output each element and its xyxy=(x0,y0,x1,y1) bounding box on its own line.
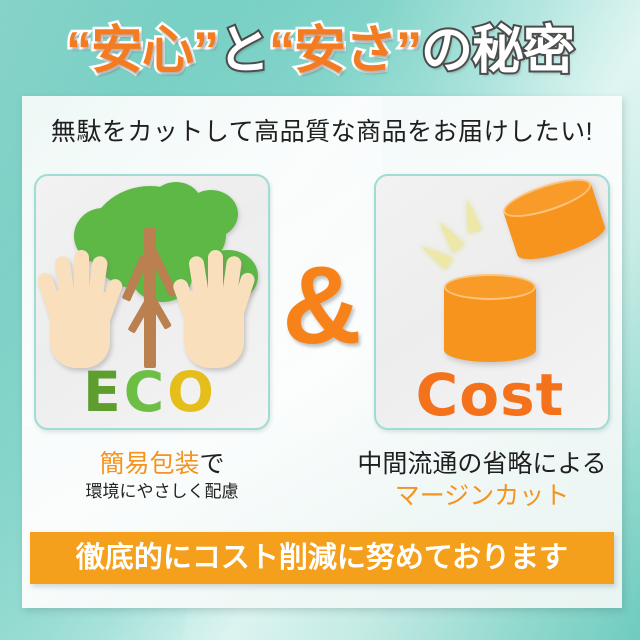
palm xyxy=(184,290,244,368)
caption-eco: 簡易包装で 環境にやさしく配慮 xyxy=(24,448,300,504)
card-eco: ECO xyxy=(34,174,270,430)
bottom-banner: 徹底的にコスト削減に努めております xyxy=(30,532,614,584)
caption-eco-highlight: 簡易包装 xyxy=(99,450,199,478)
headline-anshin: “安心” xyxy=(66,22,218,80)
cylinder-top xyxy=(444,274,536,300)
content-panel: 無駄をカットして高品質な商品をお届けしたい! xyxy=(22,96,622,608)
bottom-banner-text: 徹底的にコスト削減に努めております xyxy=(30,532,614,584)
headline-to: と xyxy=(218,22,269,80)
headline-yasusa: “安さ” xyxy=(269,22,421,80)
cylinder-main-icon xyxy=(444,274,536,362)
tree-trunk-icon xyxy=(144,228,156,368)
palm xyxy=(50,290,110,368)
caption-cost-line2: マージンカット xyxy=(344,480,620,512)
card-cost: Cost xyxy=(374,174,610,430)
canopy-bump xyxy=(184,190,238,238)
caption-cost: 中間流通の省略による マージンカット xyxy=(344,448,620,512)
eco-letter-e: E xyxy=(83,360,124,424)
hand-left-icon xyxy=(42,238,120,368)
spark-line-icon xyxy=(433,217,464,253)
caption-eco-line1: 簡易包装で xyxy=(24,448,300,480)
subtitle: 無駄をカットして高品質な商品をお届けしたい! xyxy=(22,112,622,148)
ampersand-connector: & xyxy=(274,246,370,366)
promo-poster: “安心”と“安さ”の秘密 無駄をカットして高品質な商品をお届けしたい! xyxy=(0,0,640,640)
caption-eco-line2: 環境にやさしく配慮 xyxy=(24,480,300,504)
caption-eco-suffix: で xyxy=(200,450,225,478)
spark-line-icon xyxy=(460,197,482,233)
cards-row: ECO & xyxy=(22,174,622,442)
caption-cost-line1: 中間流通の省略による xyxy=(344,448,620,480)
hand-right-icon xyxy=(176,238,254,368)
captions-row: 簡易包装で 環境にやさしく配慮 中間流通の省略による マージンカット xyxy=(22,448,622,526)
eco-wordmark: ECO xyxy=(36,362,264,422)
eco-letter-c: C xyxy=(124,360,167,424)
cylinder-lid-icon xyxy=(499,174,608,267)
headline-no-himitsu: の秘密 xyxy=(421,22,574,80)
cost-wordmark: Cost xyxy=(376,364,604,426)
eco-letter-o: O xyxy=(167,360,217,424)
headline: “安心”と“安さ”の秘密 xyxy=(0,8,640,94)
